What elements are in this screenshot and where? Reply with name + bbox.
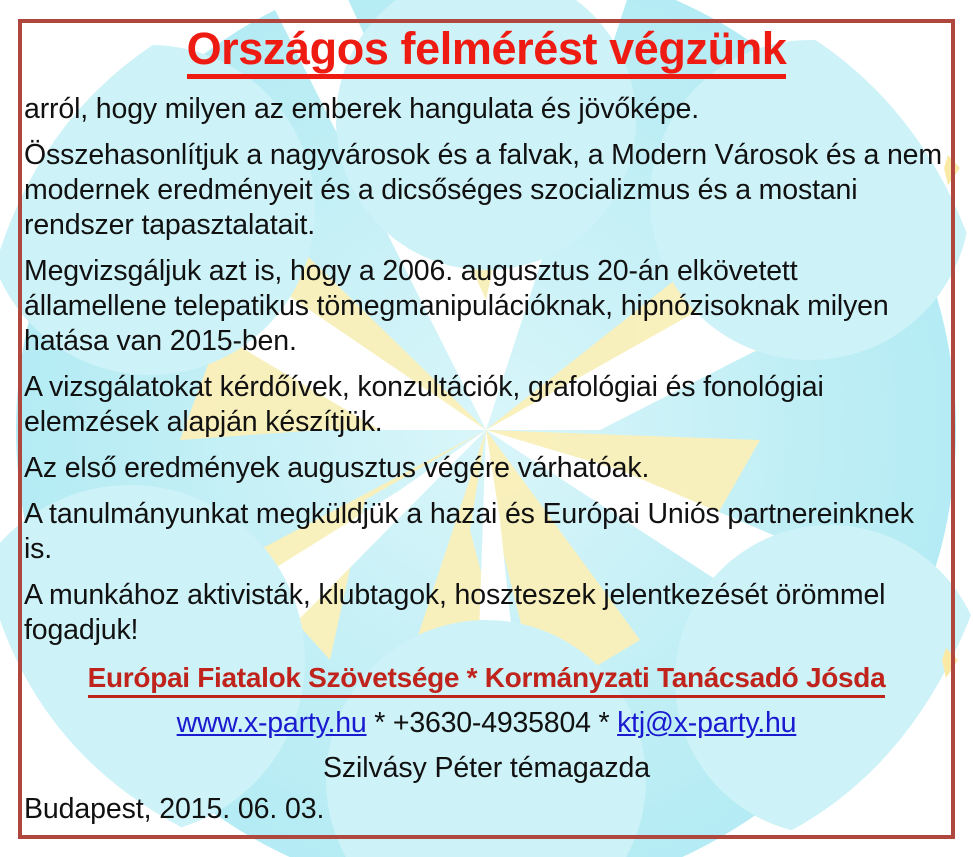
page-title: Országos felmérést végzünk: [0, 26, 973, 79]
contact-line: www.x-party.hu * +3630-4935804 * ktj@x-p…: [0, 707, 973, 740]
paragraph-1: arról, hogy milyen az emberek hangulata …: [24, 92, 942, 127]
contact-separator-2: *: [591, 707, 617, 739]
paragraph-6: A tanulmányunkat megküldjük a hazai és E…: [24, 497, 942, 567]
email-link[interactable]: ktj@x-party.hu: [617, 707, 796, 739]
organization-line: Európai Fiatalok Szövetsége * Kormányzat…: [0, 662, 973, 698]
website-link[interactable]: www.x-party.hu: [177, 707, 367, 739]
organization-text: Európai Fiatalok Szövetsége * Kormányzat…: [88, 662, 886, 698]
contact-separator-1: *: [367, 707, 393, 739]
paragraph-4: A vizsgálatokat kérdőívek, konzultációk,…: [24, 370, 942, 440]
paragraph-5: Az első eredmények augusztus végére várh…: [24, 451, 942, 486]
phone-number: +3630-4935804: [393, 707, 591, 739]
contact-person-line: Szilvásy Péter témagazda: [0, 752, 973, 785]
paragraph-3: Megvizsgáljuk azt is, hogy a 2006. augus…: [24, 254, 942, 359]
page-title-text: Országos felmérést végzünk: [187, 26, 787, 79]
paragraph-7: A munkához aktivisták, klubtagok, hoszte…: [24, 578, 942, 648]
poster-content: Országos felmérést végzünk arról, hogy m…: [0, 0, 973, 857]
place-date-line: Budapest, 2015. 06. 03.: [24, 793, 324, 826]
body-text-block: arról, hogy milyen az emberek hangulata …: [24, 92, 942, 659]
paragraph-2: Összehasonlítjuk a nagyvárosok és a falv…: [24, 138, 942, 243]
poster-root: Országos felmérést végzünk arról, hogy m…: [0, 0, 973, 857]
